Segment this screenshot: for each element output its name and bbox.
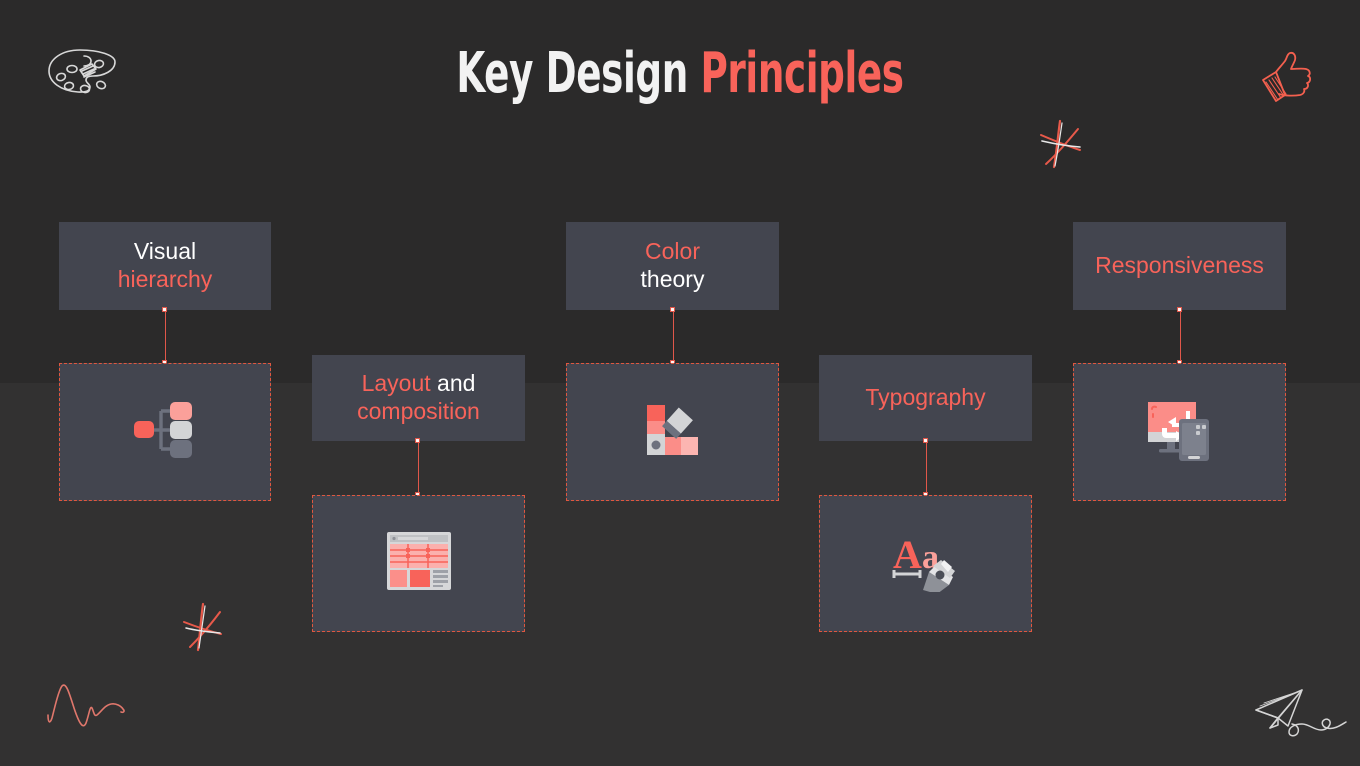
icon-card-visual-hierarchy[interactable] — [59, 363, 271, 501]
svg-text:A: A — [893, 532, 922, 577]
label-card-color-theory[interactable]: Color theory — [566, 222, 779, 310]
connector-color-theory — [673, 310, 674, 363]
sparkle-doodle-icon — [1032, 115, 1088, 173]
paint-palette-doodle-icon — [44, 44, 120, 108]
icon-card-responsiveness[interactable] — [1073, 363, 1286, 501]
color-swatches-icon — [643, 401, 703, 464]
page-title: Key Design Principles — [177, 46, 1183, 102]
connector-typography — [926, 441, 927, 495]
icon-card-layout-composition[interactable] — [312, 495, 525, 632]
thumbs-up-doodle-icon — [1256, 47, 1318, 111]
connector-handle-top[interactable] — [162, 307, 167, 312]
connector-handle-top[interactable] — [415, 438, 420, 443]
sparkle-doodle-icon — [178, 600, 228, 656]
label-line-2: composition — [357, 398, 480, 424]
page-title-accent: Principles — [700, 41, 903, 106]
label-card-responsiveness[interactable]: Responsiveness — [1073, 222, 1286, 310]
connector-layout-composition — [418, 441, 419, 495]
label-line-2: theory — [641, 266, 705, 292]
typography-pen-nib-icon: A a — [889, 530, 963, 597]
connector-handle-top[interactable] — [670, 307, 675, 312]
connector-handle-top[interactable] — [923, 438, 928, 443]
paper-plane-doodle-icon — [1248, 684, 1360, 746]
icon-card-color-theory[interactable] — [566, 363, 779, 501]
connector-visual-hierarchy — [165, 310, 166, 363]
label-line-1: Typography — [865, 384, 985, 410]
icon-card-typography[interactable]: A a — [819, 495, 1032, 632]
label-line-1: Responsiveness — [1095, 252, 1264, 278]
label-line-1: Layout — [362, 370, 431, 396]
monitor-phone-responsive-icon — [1146, 398, 1214, 467]
label-card-visual-hierarchy[interactable]: Visual hierarchy — [59, 222, 271, 310]
connector-handle-top[interactable] — [1177, 307, 1182, 312]
browser-grid-layout-icon — [386, 530, 452, 597]
label-line-1: Color — [645, 238, 700, 264]
connector-responsiveness — [1180, 310, 1181, 363]
squiggle-line-doodle-icon — [44, 672, 154, 732]
label-line-1: Visual — [134, 238, 196, 264]
hierarchy-tree-icon — [132, 399, 198, 466]
page-title-primary: Key Design — [456, 41, 700, 106]
slide-canvas: Key Design Principles — [0, 0, 1360, 766]
label-card-typography[interactable]: Typography — [819, 355, 1032, 441]
label-line-1-suffix: and — [431, 370, 476, 396]
label-line-2: hierarchy — [118, 266, 213, 292]
label-card-layout-composition[interactable]: Layout and composition — [312, 355, 525, 441]
